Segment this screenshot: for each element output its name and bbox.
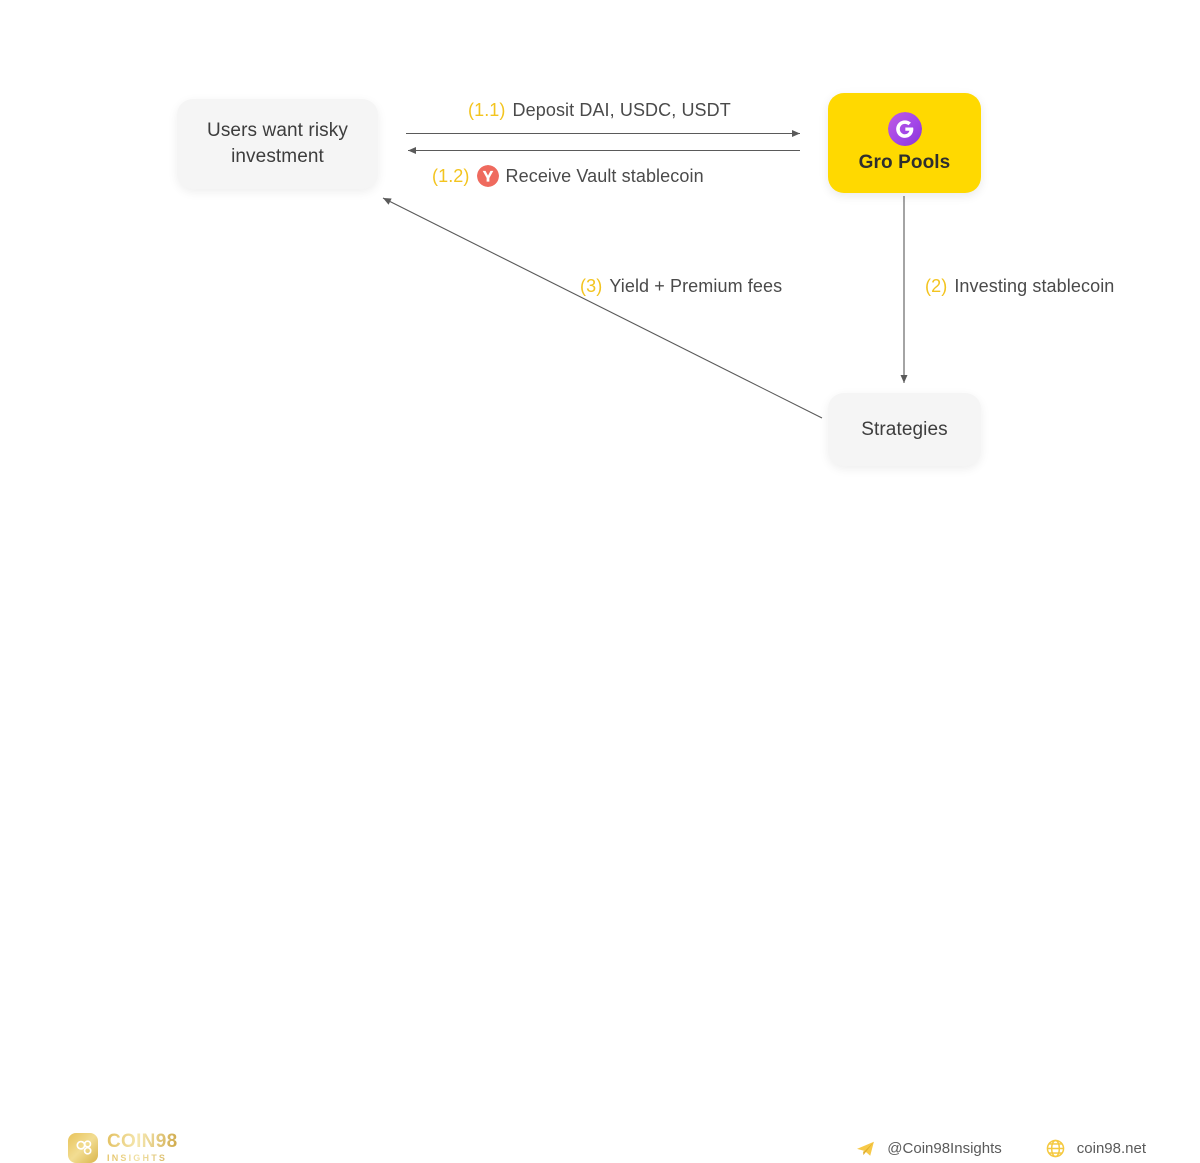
footer: COIN98 INSIGHTS @Coin98Insights: [0, 558, 1200, 628]
brand-name: COIN98: [107, 1132, 177, 1151]
arrow-yield: [383, 198, 822, 418]
edge-text-deposit: Deposit DAI, USDC, USDT: [513, 100, 731, 121]
coin98-mark-icon: [68, 1133, 98, 1163]
brand-tagline: INSIGHTS: [107, 1154, 177, 1163]
node-users-label-line1: Users want risky: [207, 118, 348, 144]
node-gro-pools-label: Gro Pools: [859, 152, 951, 174]
diagram-arrows: [0, 0, 1200, 628]
yearn-vault-icon: [477, 165, 499, 187]
node-strategies[interactable]: Strategies: [828, 393, 981, 466]
edge-text-investing: Investing stablecoin: [954, 276, 1114, 297]
social-telegram-label: @Coin98Insights: [887, 1140, 1001, 1157]
edge-number-1-2: (1.2): [432, 166, 470, 187]
edge-number-3: (3): [580, 276, 602, 297]
edge-label-deposit: (1.1) Deposit DAI, USDC, USDT: [468, 100, 731, 121]
social-telegram[interactable]: @Coin98Insights: [855, 1138, 1001, 1159]
edge-text-receive-vault: Receive Vault stablecoin: [506, 166, 704, 187]
edge-text-yield: Yield + Premium fees: [609, 276, 782, 297]
gro-logo-icon: [888, 112, 922, 146]
edge-number-2: (2): [925, 276, 947, 297]
brand-wordmark: COIN98 INSIGHTS: [107, 1132, 177, 1163]
social-website[interactable]: coin98.net: [1045, 1138, 1146, 1159]
edge-number-1-1: (1.1): [468, 100, 506, 121]
node-gro-pools[interactable]: Gro Pools: [828, 93, 981, 193]
diagram-canvas: Users want risky investment Gro Pools St…: [0, 0, 1200, 628]
social-website-label: coin98.net: [1077, 1140, 1146, 1157]
node-users-want-risky-investment[interactable]: Users want risky investment: [177, 99, 378, 189]
edge-label-yield: (3) Yield + Premium fees: [580, 276, 782, 297]
edge-label-receive-vault: (1.2) Receive Vault stablecoin: [432, 165, 704, 187]
node-strategies-label: Strategies: [861, 417, 948, 443]
telegram-icon: [855, 1138, 876, 1159]
social-links: @Coin98Insights coin98.net: [855, 1138, 1146, 1159]
edge-label-investing: (2) Investing stablecoin: [925, 276, 1114, 297]
globe-icon: [1045, 1138, 1066, 1159]
node-users-label-line2: investment: [231, 144, 324, 170]
brand-coin98-insights[interactable]: COIN98 INSIGHTS: [68, 1132, 177, 1163]
